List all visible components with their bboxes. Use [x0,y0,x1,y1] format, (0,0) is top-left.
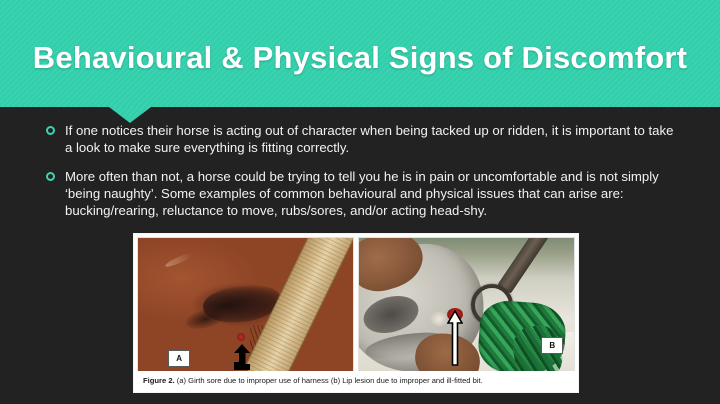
bullet-text: If one notices their horse is acting out… [65,122,678,156]
panel-b-bridle-strap [498,237,562,294]
figure-panel-a-photo: A [137,237,354,373]
figure-caption: Figure 2. (a) Girth sore due to improper… [137,371,575,391]
figure-caption-label: Figure 2. [143,376,175,385]
header-notch-triangle [109,107,151,123]
figure-panel-b-photo: B [358,237,575,373]
panel-a-girth-sore-secondary [184,306,227,333]
panel-a-red-wound-spot [237,333,245,341]
panel-a-highlight [164,251,194,269]
hollow-circle-bullet-icon [46,172,55,181]
panel-label-b: B [541,337,563,354]
up-arrow-white-outline-icon [447,310,463,366]
presentation-slide: Behavioural & Physical Signs of Discomfo… [0,0,720,404]
panel-label-a: A [168,350,190,367]
list-item: More often than not, a horse could be tr… [46,168,678,219]
up-arrow-black-icon [233,344,251,370]
figure-photo-row: A B [137,237,575,373]
bullet-text: More often than not, a horse could be tr… [65,168,678,219]
page-title: Behavioural & Physical Signs of Discomfo… [0,40,720,76]
panel-b-lesion-pale [430,312,448,326]
list-item: If one notices their horse is acting out… [46,122,678,156]
figure-caption-text: (a) Girth sore due to improper use of ha… [175,376,483,385]
figure-block: A B Fi [133,233,579,393]
slide-body: If one notices their horse is acting out… [46,122,678,231]
hollow-circle-bullet-icon [46,126,55,135]
